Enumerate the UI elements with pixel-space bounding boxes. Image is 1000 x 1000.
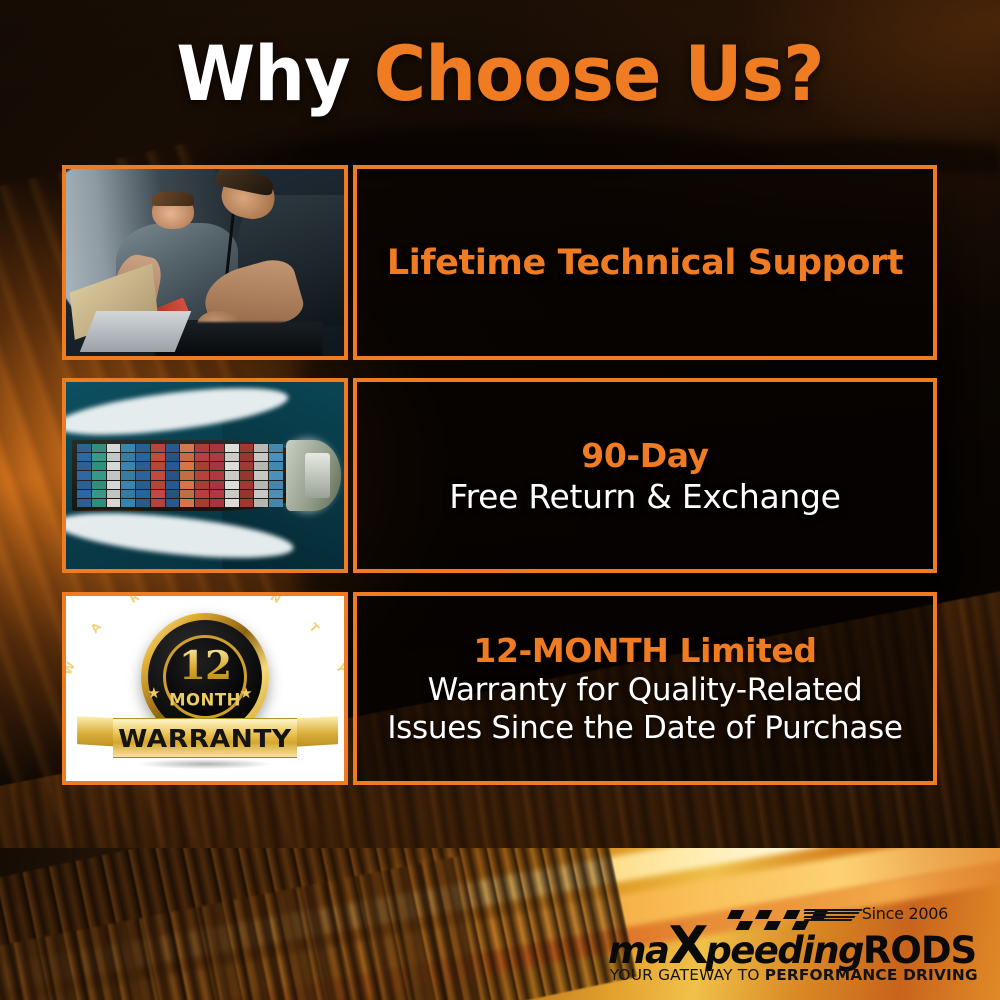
since-label: Since 2006 — [862, 904, 948, 923]
feature-2-headline: 90-Day — [581, 436, 708, 475]
feature-2-subline: Free Return & Exchange — [449, 477, 840, 516]
feature-3-subline: Warranty for Quality-Related — [428, 671, 863, 709]
warranty-number: 12 — [179, 643, 231, 689]
tagline-bold: PERFORMANCE DRIVING — [765, 966, 978, 984]
container-ship-photo — [66, 382, 344, 569]
feature-text-panel-2: 90-Day Free Return & Exchange — [353, 378, 937, 573]
feature-3-headline: 12-MONTH Limited — [473, 631, 816, 670]
feature-image-warranty: WARRANTY★★ 12 MONTH WARRANTY — [62, 592, 348, 785]
speed-lines-icon — [804, 909, 862, 922]
promo-graphic: Why Choose Us? Lifetime Technical Suppor… — [0, 0, 1000, 1000]
feature-3-subline-2: Issues Since the Date of Purchase — [387, 709, 902, 747]
warranty-badge-image: WARRANTY★★ 12 MONTH WARRANTY — [66, 596, 344, 781]
tagline-light: YOUR GATEWAY TO — [610, 966, 765, 984]
ribbon-center: WARRANTY — [113, 718, 296, 758]
feature-text-panel-1: Lifetime Technical Support — [353, 165, 937, 360]
page-title-orange: Choose Us? — [374, 29, 824, 118]
feature-image-mechanics — [62, 165, 348, 360]
brand-tagline: YOUR GATEWAY TO PERFORMANCE DRIVING — [610, 966, 947, 984]
page-title: Why Choose Us? — [30, 36, 970, 112]
feature-image-shipping — [62, 378, 348, 573]
brand-wordmark: maXpeedingRODS — [608, 926, 948, 966]
page-title-white: Why — [176, 29, 349, 118]
warranty-period: MONTH — [169, 690, 241, 709]
ribbon-label: WARRANTY — [118, 724, 292, 753]
feature-1-headline: Lifetime Technical Support — [387, 243, 903, 283]
feature-text-panel-3: 12-MONTH Limited Warranty for Quality-Re… — [353, 592, 937, 785]
brand-logo[interactable]: Since 2006 maXpeedingRODS YOUR GATEWAY T… — [608, 904, 948, 990]
mechanics-diagnostic-photo — [66, 169, 344, 356]
